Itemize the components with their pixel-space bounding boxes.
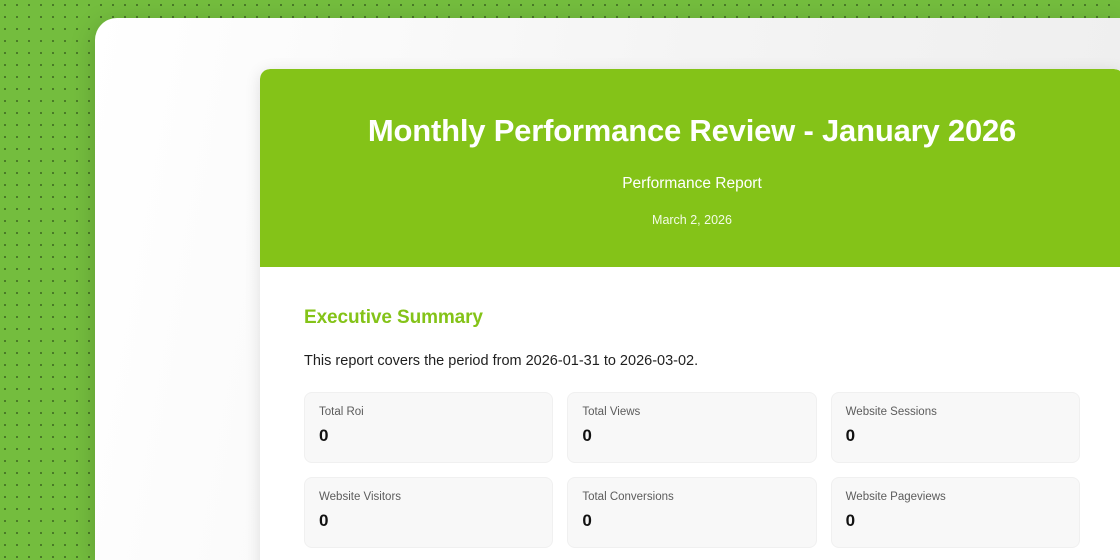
report-body: Executive Summary This report covers the… [260,267,1120,560]
metric-label: Total Views [582,406,801,420]
report-subtitle: Performance Report [622,175,762,193]
metric-label: Website Sessions [846,406,1065,420]
report-title: Monthly Performance Review - January 202… [368,113,1016,149]
metric-label: Website Visitors [319,491,538,505]
metric-value: 0 [319,512,538,531]
section-title-executive-summary: Executive Summary [304,307,1080,329]
metric-card: Total Roi0 [304,392,553,463]
metric-card: Website Sessions0 [831,392,1080,463]
metric-value: 0 [846,427,1065,446]
metric-card-grid: Total Roi0Total Views0Website Sessions0W… [304,392,1080,560]
metric-label: Total Conversions [582,491,801,505]
app-surface-panel: Monthly Performance Review - January 202… [95,18,1120,560]
report-document: Monthly Performance Review - January 202… [260,69,1120,560]
metric-value: 0 [582,427,801,446]
metric-card: Website Visitors0 [304,477,553,548]
metric-card: Website Pageviews0 [831,477,1080,548]
metric-card: Total Conversions0 [567,477,816,548]
summary-period-text: This report covers the period from 2026-… [304,353,1080,369]
metric-value: 0 [846,512,1065,531]
report-date: March 2, 2026 [652,213,732,227]
metric-value: 0 [319,427,538,446]
report-header-banner: Monthly Performance Review - January 202… [260,69,1120,267]
metric-card: Total Views0 [567,392,816,463]
metric-label: Website Pageviews [846,491,1065,505]
metric-value: 0 [582,512,801,531]
metric-label: Total Roi [319,406,538,420]
